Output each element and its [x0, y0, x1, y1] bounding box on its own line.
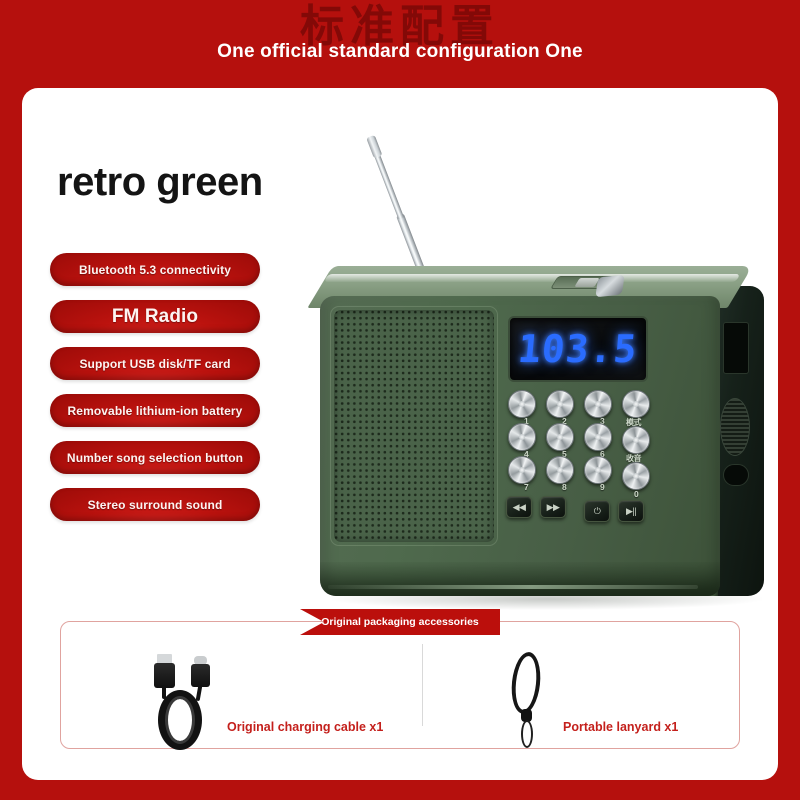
keypad-knob-3[interactable]: [584, 390, 612, 418]
feature-pill-label: Stereo surround sound: [88, 498, 223, 512]
charging-cable-icon: [144, 654, 228, 750]
play-pause-button[interactable]: ▶||: [618, 500, 644, 522]
keypad-knob-5[interactable]: [546, 423, 574, 451]
keypad-knob-2[interactable]: [546, 390, 574, 418]
led-display: 103.5: [508, 316, 648, 382]
feature-pill-fm-radio[interactable]: FM Radio: [50, 300, 260, 333]
feature-pill-label: Removable lithium-ion battery: [68, 404, 243, 418]
feature-pill-usb-tf[interactable]: Support USB disk/TF card: [50, 347, 260, 380]
product-image-radio: 103.5 1 4 7 2 5 8 3 6 9: [302, 118, 772, 608]
feature-pill-stereo[interactable]: Stereo surround sound: [50, 488, 260, 521]
keypad-knob-mode[interactable]: [622, 390, 650, 418]
feature-pill-battery[interactable]: Removable lithium-ion battery: [50, 394, 260, 427]
feature-pill-number-select[interactable]: Number song selection button: [50, 441, 260, 474]
header-title: One official standard configuration One: [0, 41, 800, 63]
accessory-label-lanyard: Portable lanyard x1: [563, 720, 678, 734]
keypad-knob-tuner[interactable]: [622, 426, 650, 454]
feature-pill-label: Support USB disk/TF card: [79, 357, 230, 371]
accessories-divider: [422, 644, 423, 726]
play-pause-icon: ▶||: [626, 506, 636, 517]
keypad-knob-8[interactable]: [546, 456, 574, 484]
previous-track-icon: ◀◀: [513, 502, 526, 513]
previous-track-button[interactable]: ◀◀: [506, 496, 532, 518]
display-frequency-value: 103.5: [516, 327, 639, 371]
speaker-grille: [334, 310, 494, 542]
page-header: 标准配置 One official standard configuration…: [0, 0, 800, 90]
keypad-label-8: 8: [562, 482, 567, 492]
keypad-label-7: 7: [524, 482, 529, 492]
next-track-icon: ▶▶: [547, 502, 560, 513]
usb-port: [723, 322, 749, 374]
accessory-label-cable: Original charging cable x1: [227, 720, 383, 734]
keypad-knob-7[interactable]: [508, 456, 536, 484]
feature-pill-bluetooth[interactable]: Bluetooth 5.3 connectivity: [50, 253, 260, 286]
keypad-knob-9[interactable]: [584, 456, 612, 484]
keypad-knob-1[interactable]: [508, 390, 536, 418]
keypad: 1 4 7 2 5 8 3 6 9 模式 收音 0: [502, 390, 672, 520]
accessories-ribbon-label: Original packaging accessories: [321, 616, 479, 628]
keypad-knob-4[interactable]: [508, 423, 536, 451]
lanyard-icon: [504, 652, 554, 752]
keypad-label-9: 9: [600, 482, 605, 492]
product-card: retro green Bluetooth 5.3 connectivity F…: [22, 88, 778, 780]
volume-wheel[interactable]: [720, 398, 750, 456]
keypad-knob-0[interactable]: [622, 462, 650, 490]
accessories-ribbon: Original packaging accessories: [300, 609, 500, 635]
feature-pill-label: FM Radio: [112, 306, 198, 328]
keypad-knob-6[interactable]: [584, 423, 612, 451]
feature-pill-label: Bluetooth 5.3 connectivity: [79, 263, 231, 277]
keypad-label-0: 0: [634, 489, 639, 499]
radio-top-sheen: [324, 274, 741, 282]
power-icon: ⏻: [594, 506, 601, 517]
feature-pill-label: Number song selection button: [67, 451, 243, 465]
headphone-jack: [723, 464, 749, 486]
page-title: retro green: [57, 160, 263, 205]
power-button[interactable]: ⏻: [584, 500, 610, 522]
next-track-button[interactable]: ▶▶: [540, 496, 566, 518]
